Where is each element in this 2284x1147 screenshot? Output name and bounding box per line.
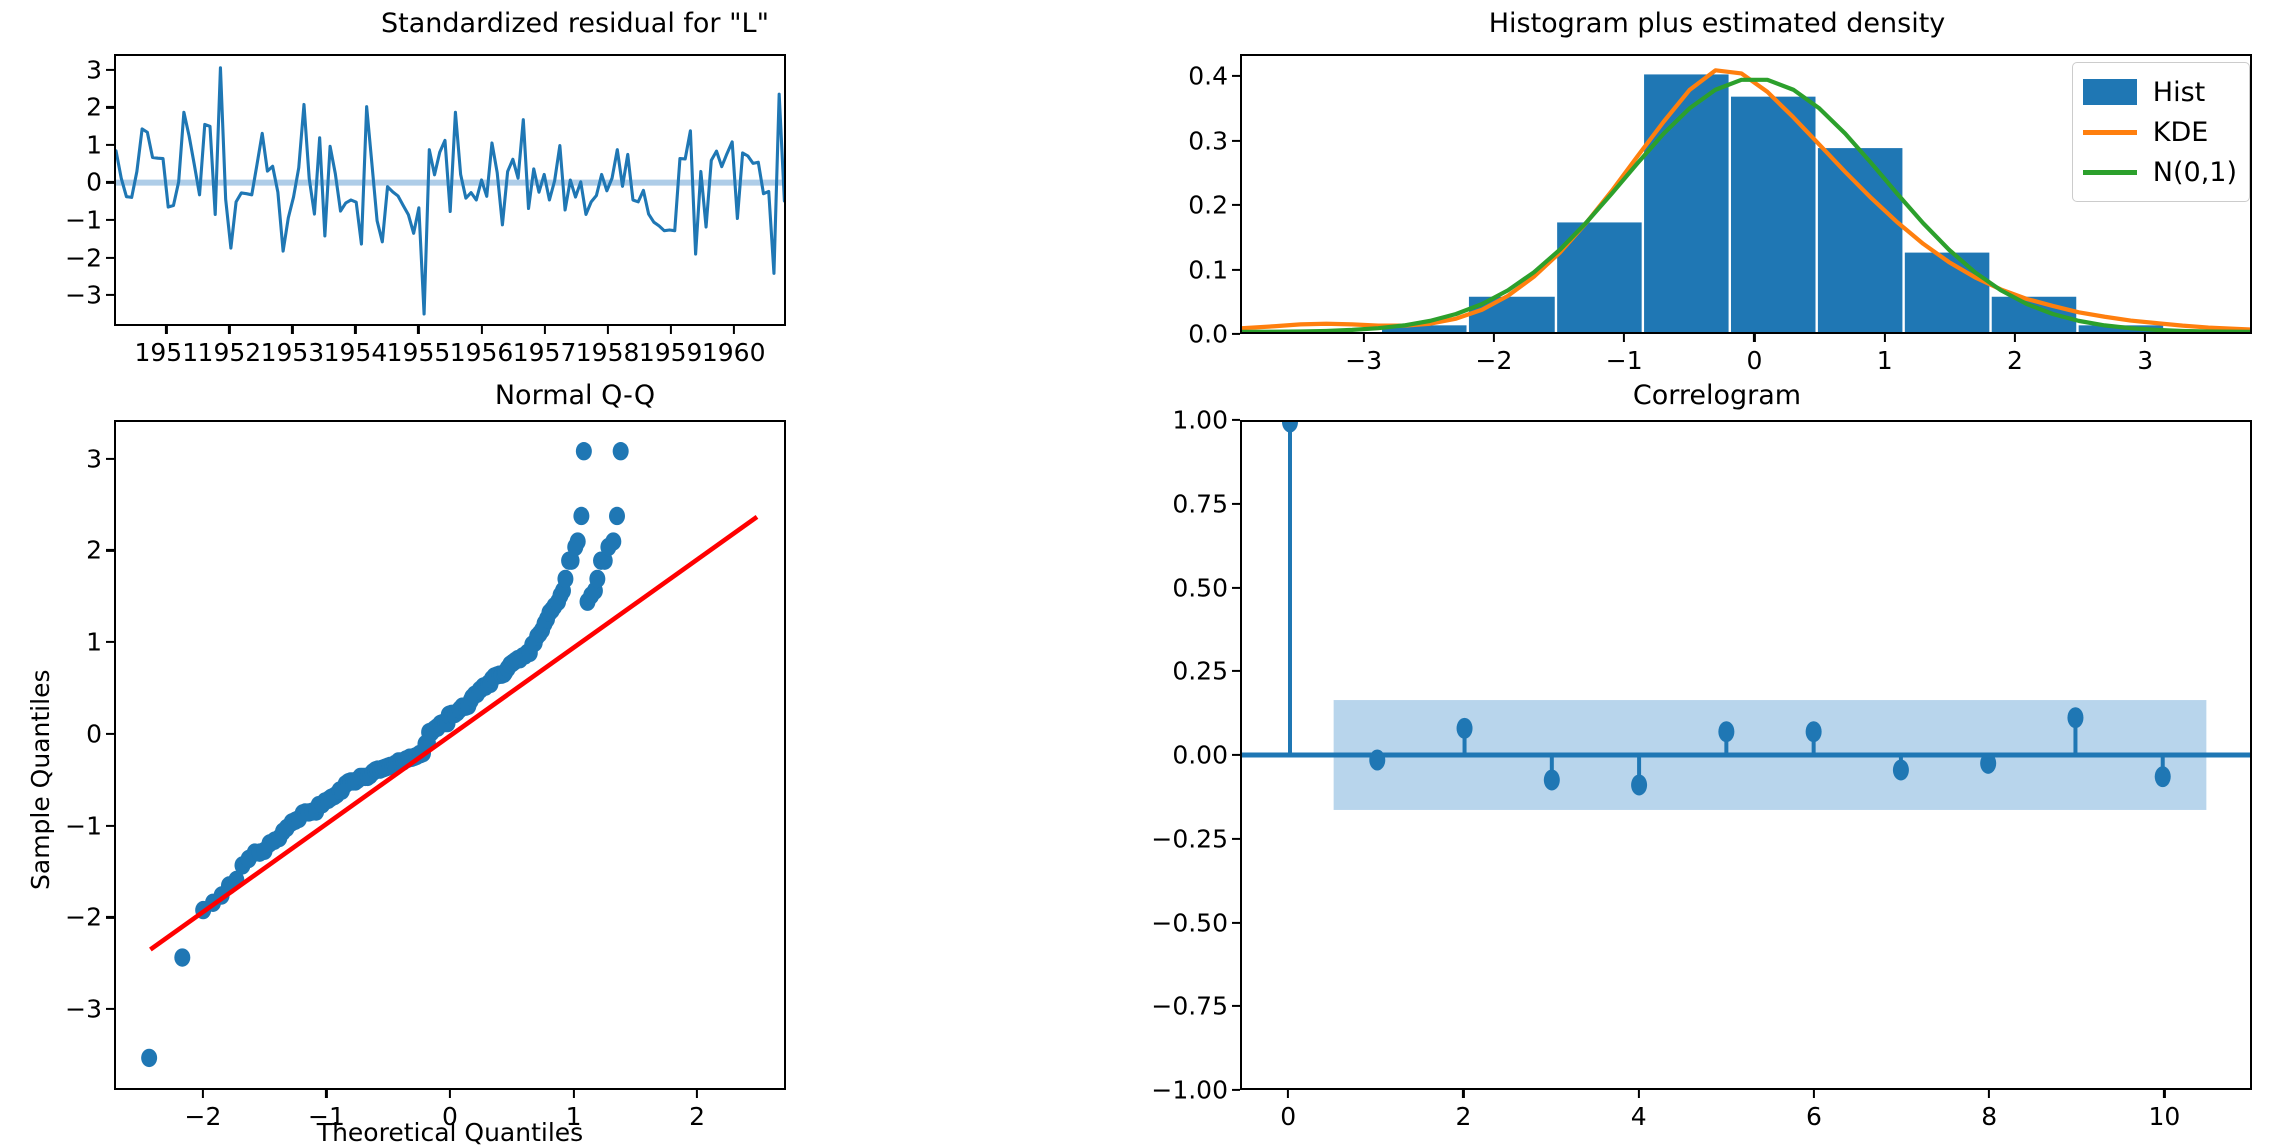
- residual-plot-title: Standardized residual for "L": [0, 8, 1150, 39]
- histogram-ytick-label: 0.0: [1188, 320, 1228, 349]
- qq-ytick-mark: [106, 1008, 114, 1010]
- legend-item-n-0-1: N(0,1): [2083, 152, 2237, 192]
- correlogram-ytick-label: −1.00: [1151, 1076, 1228, 1105]
- residual-ytick-mark: [106, 144, 114, 146]
- correlogram-xtick-label: 2: [1455, 1102, 1471, 1131]
- residual-xtick-label: 1955: [387, 338, 451, 367]
- histogram-ytick-mark: [1232, 268, 1240, 270]
- legend-line-swatch: [2083, 119, 2137, 145]
- qq-yaxis-label: Sample Quantiles: [26, 670, 55, 890]
- correlogram-xtick-label: 4: [1631, 1102, 1647, 1131]
- correlogram-ytick-mark: [1232, 838, 1240, 840]
- residual-xtick-label: 1960: [702, 338, 766, 367]
- legend-line-stroke: [2083, 170, 2137, 175]
- residual-ytick-mark: [106, 257, 114, 259]
- histogram-xtick-mark: [1363, 334, 1365, 342]
- qq-xtick-mark: [696, 1090, 698, 1098]
- correlogram-xtick-label: 6: [1806, 1102, 1822, 1131]
- correlogram-xtick-label: 8: [1981, 1102, 1997, 1131]
- qq-ytick-mark: [106, 549, 114, 551]
- legend-line-swatch: [2083, 159, 2137, 185]
- histogram-xtick-label: −1: [1606, 346, 1643, 375]
- qq-ytick-label: −1: [65, 811, 102, 840]
- panel-histogram-density: Histogram plus estimated density 0.00.10…: [1150, 0, 2284, 380]
- histogram-ytick-label: 0.2: [1188, 191, 1228, 220]
- correlogram-xtick-mark: [1462, 1090, 1464, 1098]
- correlogram-xtick-mark: [1988, 1090, 1990, 1098]
- residual-ytick-label: 0: [86, 168, 102, 197]
- histogram-xtick-label: −3: [1345, 346, 1382, 375]
- residual-xtick-mark: [543, 326, 545, 334]
- correlogram-ytick-mark: [1232, 921, 1240, 923]
- qq-ytick-label: 3: [86, 444, 102, 473]
- correlogram-ytick-label: −0.25: [1151, 824, 1228, 853]
- residual-ytick-mark: [106, 181, 114, 183]
- histogram-xtick-mark: [1884, 334, 1886, 342]
- qq-xtick-mark: [449, 1090, 451, 1098]
- histogram-xtick-label: 0: [1747, 346, 1763, 375]
- residual-xtick-label: 1952: [198, 338, 262, 367]
- qq-ytick-label: −2: [65, 903, 102, 932]
- panel-standardized-residual: Standardized residual for "L" 3210−1−2−3…: [0, 0, 1150, 380]
- qq-ytick-mark: [106, 733, 114, 735]
- legend-item-label: Hist: [2153, 77, 2205, 108]
- residual-xtick-label: 1954: [324, 338, 388, 367]
- residual-xtick-mark: [670, 326, 672, 334]
- correlogram-ytick-label: 0.25: [1172, 657, 1228, 686]
- residual-ytick-label: −3: [65, 281, 102, 310]
- residual-ytick-label: 3: [86, 55, 102, 84]
- histogram-xtick-mark: [2144, 334, 2146, 342]
- residual-ytick-mark: [106, 294, 114, 296]
- qq-ytick-mark: [106, 641, 114, 643]
- histogram-xtick-label: 1: [1877, 346, 1893, 375]
- correlogram-ytick-label: 1.00: [1172, 406, 1228, 435]
- correlogram-ytick-mark: [1232, 419, 1240, 421]
- legend-line-stroke: [2083, 130, 2137, 135]
- residual-xtick-label: 1956: [450, 338, 514, 367]
- panel-normal-qq: Normal Q-Q 3210−1−2−3−2−1012 Theoretical…: [0, 380, 1150, 1132]
- correlogram-xtick-mark: [1287, 1090, 1289, 1098]
- histogram-xtick-mark: [1493, 334, 1495, 342]
- qq-ytick-label: 0: [86, 719, 102, 748]
- correlogram-ytick-label: 0.50: [1172, 573, 1228, 602]
- residual-xtick-mark: [354, 326, 356, 334]
- residual-xtick-label: 1959: [639, 338, 703, 367]
- qq-plot-title: Normal Q-Q: [0, 380, 1150, 411]
- qq-ytick-mark: [106, 825, 114, 827]
- residual-ytick-label: −2: [65, 243, 102, 272]
- correlogram-ytick-mark: [1232, 1089, 1240, 1091]
- correlogram-xtick-mark: [1638, 1090, 1640, 1098]
- histogram-ytick-mark: [1232, 333, 1240, 335]
- legend-item-kde: KDE: [2083, 112, 2237, 152]
- histogram-xtick-label: 3: [2137, 346, 2153, 375]
- residual-xtick-mark: [417, 326, 419, 334]
- residual-xtick-mark: [165, 326, 167, 334]
- legend-item-label: KDE: [2153, 117, 2209, 148]
- qq-ytick-mark: [106, 457, 114, 459]
- correlogram-series-svg: [1242, 422, 2250, 1088]
- correlogram-xtick-label: 0: [1280, 1102, 1296, 1131]
- histogram-ytick-label: 0.1: [1188, 255, 1228, 284]
- qq-xaxis-label: Theoretical Quantiles: [114, 1118, 786, 1147]
- qq-axes: [114, 420, 786, 1090]
- legend-patch-swatch: [2083, 79, 2137, 105]
- residual-series-svg: [116, 56, 784, 324]
- panel-correlogram: Correlogram 1.000.750.500.250.00−0.25−0.…: [1150, 380, 2284, 1132]
- correlogram-ytick-label: 0.00: [1172, 741, 1228, 770]
- histogram-xtick-mark: [1623, 334, 1625, 342]
- legend-item-label: N(0,1): [2153, 157, 2237, 188]
- qq-ytick-label: −3: [65, 995, 102, 1024]
- residual-ytick-label: −1: [65, 206, 102, 235]
- histogram-xtick-mark: [2014, 334, 2016, 342]
- histogram-legend: HistKDEN(0,1): [2072, 62, 2250, 202]
- residual-ytick-mark: [106, 69, 114, 71]
- histogram-xtick-label: 2: [2007, 346, 2023, 375]
- correlogram-ytick-mark: [1232, 670, 1240, 672]
- histogram-ytick-label: 0.4: [1188, 62, 1228, 91]
- histogram-plot-title: Histogram plus estimated density: [1150, 8, 2284, 39]
- correlogram-ytick-mark: [1232, 586, 1240, 588]
- histogram-ytick-mark: [1232, 75, 1240, 77]
- qq-xtick-mark: [572, 1090, 574, 1098]
- residual-xtick-mark: [480, 326, 482, 334]
- legend-item-hist: Hist: [2083, 72, 2237, 112]
- qq-xtick-mark: [325, 1090, 327, 1098]
- qq-series-svg: [116, 422, 784, 1088]
- correlogram-axes: [1240, 420, 2252, 1090]
- residual-xtick-mark: [733, 326, 735, 334]
- histogram-ytick-mark: [1232, 140, 1240, 142]
- residual-xtick-label: 1958: [576, 338, 640, 367]
- histogram-ytick-label: 0.3: [1188, 126, 1228, 155]
- residual-ytick-mark: [106, 106, 114, 108]
- correlogram-ytick-mark: [1232, 503, 1240, 505]
- correlogram-xtick-mark: [2163, 1090, 2165, 1098]
- qq-ytick-label: 2: [86, 536, 102, 565]
- residual-ytick-label: 2: [86, 93, 102, 122]
- correlogram-ytick-label: 0.75: [1172, 489, 1228, 518]
- correlogram-ytick-mark: [1232, 1005, 1240, 1007]
- residual-ytick-label: 1: [86, 130, 102, 159]
- residual-xtick-label: 1951: [135, 338, 199, 367]
- qq-ytick-mark: [106, 916, 114, 918]
- residual-xtick-mark: [291, 326, 293, 334]
- diagnostics-figure: Standardized residual for "L" 3210−1−2−3…: [0, 0, 2284, 1132]
- histogram-ytick-mark: [1232, 204, 1240, 206]
- residual-xtick-label: 1957: [513, 338, 577, 367]
- qq-xtick-mark: [202, 1090, 204, 1098]
- correlogram-ytick-mark: [1232, 754, 1240, 756]
- histogram-xtick-label: −2: [1476, 346, 1513, 375]
- correlogram-xtick-mark: [1813, 1090, 1815, 1098]
- correlogram-ytick-label: −0.75: [1151, 992, 1228, 1021]
- residual-xtick-mark: [228, 326, 230, 334]
- correlogram-plot-title: Correlogram: [1150, 380, 2284, 411]
- correlogram-xtick-label: 10: [2148, 1102, 2180, 1131]
- correlogram-ytick-label: −0.50: [1151, 908, 1228, 937]
- qq-ytick-label: 1: [86, 628, 102, 657]
- residual-xtick-mark: [607, 326, 609, 334]
- residual-xtick-label: 1953: [261, 338, 325, 367]
- residual-ytick-mark: [106, 219, 114, 221]
- residual-axes: [114, 54, 786, 326]
- histogram-xtick-mark: [1753, 334, 1755, 342]
